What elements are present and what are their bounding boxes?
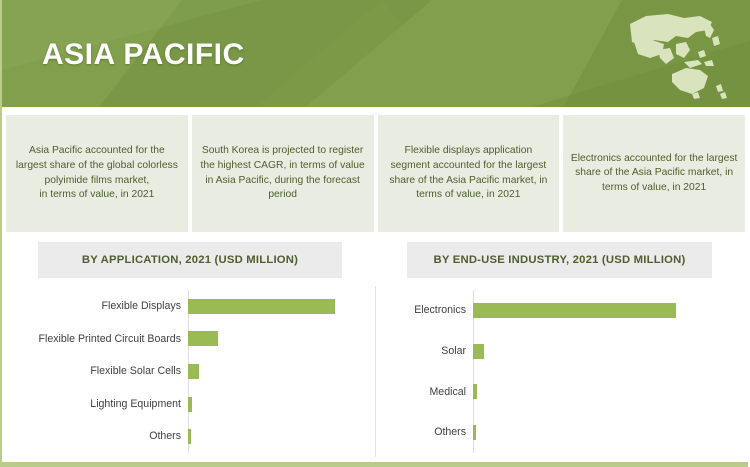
bar: [188, 364, 199, 379]
bar-label: Others: [385, 426, 473, 439]
callout-row: Asia Pacific accounted for the largest s…: [2, 110, 748, 238]
chart-panel-by-application: BY APPLICATION, 2021 (USD MILLION) Flexi…: [6, 238, 375, 467]
callout-text: Asia Pacific accounted for the largest s…: [13, 144, 181, 202]
callout-text: South Korea is projected to register the…: [199, 144, 367, 202]
page-title: ASIA PACIFIC: [42, 38, 245, 72]
bar-row: Others: [385, 419, 730, 447]
bar: [473, 344, 484, 359]
bar-row: Flexible Printed Circuit Boards: [16, 325, 360, 353]
charts-section: BY APPLICATION, 2021 (USD MILLION) Flexi…: [2, 238, 748, 467]
bottom-accent-bar: [2, 462, 748, 467]
bar: [473, 384, 477, 399]
bar-chart-by-end-use-industry: Electronics Solar Medical Others: [385, 290, 730, 453]
bar-label: Flexible Displays: [16, 300, 188, 313]
callout-electronics: Electronics accounted for the largest sh…: [563, 115, 745, 232]
bar-label: Others: [16, 430, 188, 443]
bar-label: Electronics: [385, 304, 473, 317]
chart-title-by-end-use-industry: BY END-USE INDUSTRY, 2021 (USD MILLION): [407, 242, 712, 278]
bar: [188, 299, 335, 314]
bar-label: Solar: [385, 345, 473, 358]
bar-label: Flexible Printed Circuit Boards: [16, 333, 188, 346]
bar-chart-by-application: Flexible Displays Flexible Printed Circu…: [16, 290, 360, 453]
bar: [473, 425, 476, 440]
infographic-page: ASIA PACIFIC Asia Pacific accounted for …: [0, 0, 750, 467]
bar-row: Lighting Equipment: [16, 390, 360, 418]
bar-row: Medical: [385, 378, 730, 406]
bar-row: Others: [16, 423, 360, 451]
chart-title-by-application: BY APPLICATION, 2021 (USD MILLION): [38, 242, 342, 278]
bar: [188, 331, 218, 346]
callout-text: Electronics accounted for the largest sh…: [570, 152, 738, 196]
bar-label: Lighting Equipment: [16, 398, 188, 411]
bar-row: Flexible Solar Cells: [16, 357, 360, 385]
bar: [473, 303, 676, 318]
chart-panel-by-end-use-industry: BY END-USE INDUSTRY, 2021 (USD MILLION) …: [375, 238, 744, 467]
header-banner: ASIA PACIFIC: [2, 0, 750, 110]
callout-text: Flexible displays application segment ac…: [385, 144, 553, 202]
bar-row: Solar: [385, 337, 730, 365]
bar: [188, 397, 192, 412]
bar-label: Medical: [385, 386, 473, 399]
asia-pacific-world-map-icon: [628, 6, 738, 106]
bar-row: Flexible Displays: [16, 292, 360, 320]
callout-south-korea-cagr: South Korea is projected to register the…: [192, 115, 374, 232]
bar-label: Flexible Solar Cells: [16, 365, 188, 378]
bar-row: Electronics: [385, 296, 730, 324]
bar: [188, 429, 191, 444]
callout-region-share: Asia Pacific accounted for the largest s…: [6, 115, 188, 232]
callout-flexible-displays: Flexible displays application segment ac…: [378, 115, 560, 232]
